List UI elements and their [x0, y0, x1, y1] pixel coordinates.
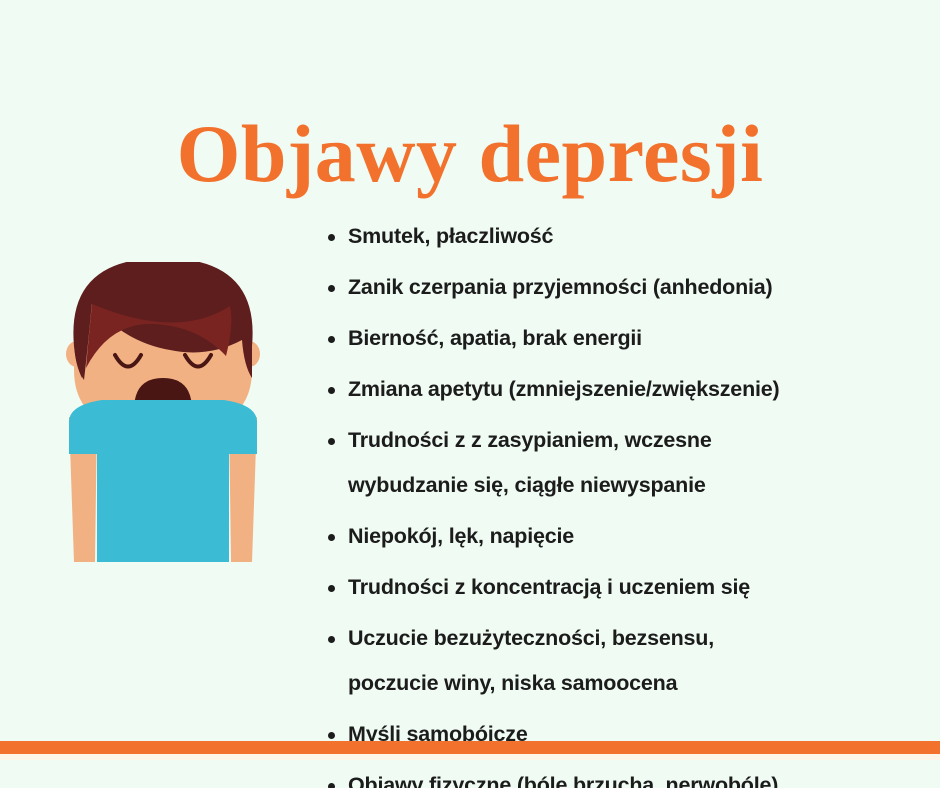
- list-item: Bierność, apatia, brak energii: [322, 316, 912, 361]
- list-item: Trudności z z zasypianiem, wczesne wybud…: [322, 418, 912, 508]
- list-item: Smutek, płaczliwość: [322, 214, 912, 259]
- page-title: Objawy depresji: [0, 113, 940, 195]
- bottom-cream-band: [0, 754, 940, 760]
- list-item: Objawy fizyczne (bóle brzucha, nerwobóle…: [322, 763, 912, 788]
- list-item: Trudności z koncentracją i uczeniem się: [322, 565, 912, 610]
- poster-canvas: Objawy depresji: [0, 0, 940, 788]
- list-item: Niepokój, lęk, napięcie: [322, 514, 912, 559]
- bottom-accent-bar: [0, 741, 940, 754]
- list-item: Zmiana apetytu (zmniejszenie/zwiększenie…: [322, 367, 912, 412]
- list-item: Uczucie bezużyteczności, bezsensu, poczu…: [322, 616, 912, 706]
- sad-boy-illustration: [58, 262, 298, 562]
- list-item: Zanik czerpania przyjemności (anhedonia): [322, 265, 912, 310]
- shirt-shape: [69, 400, 257, 562]
- symptom-list: Smutek, płaczliwość Zanik czerpania przy…: [322, 214, 912, 788]
